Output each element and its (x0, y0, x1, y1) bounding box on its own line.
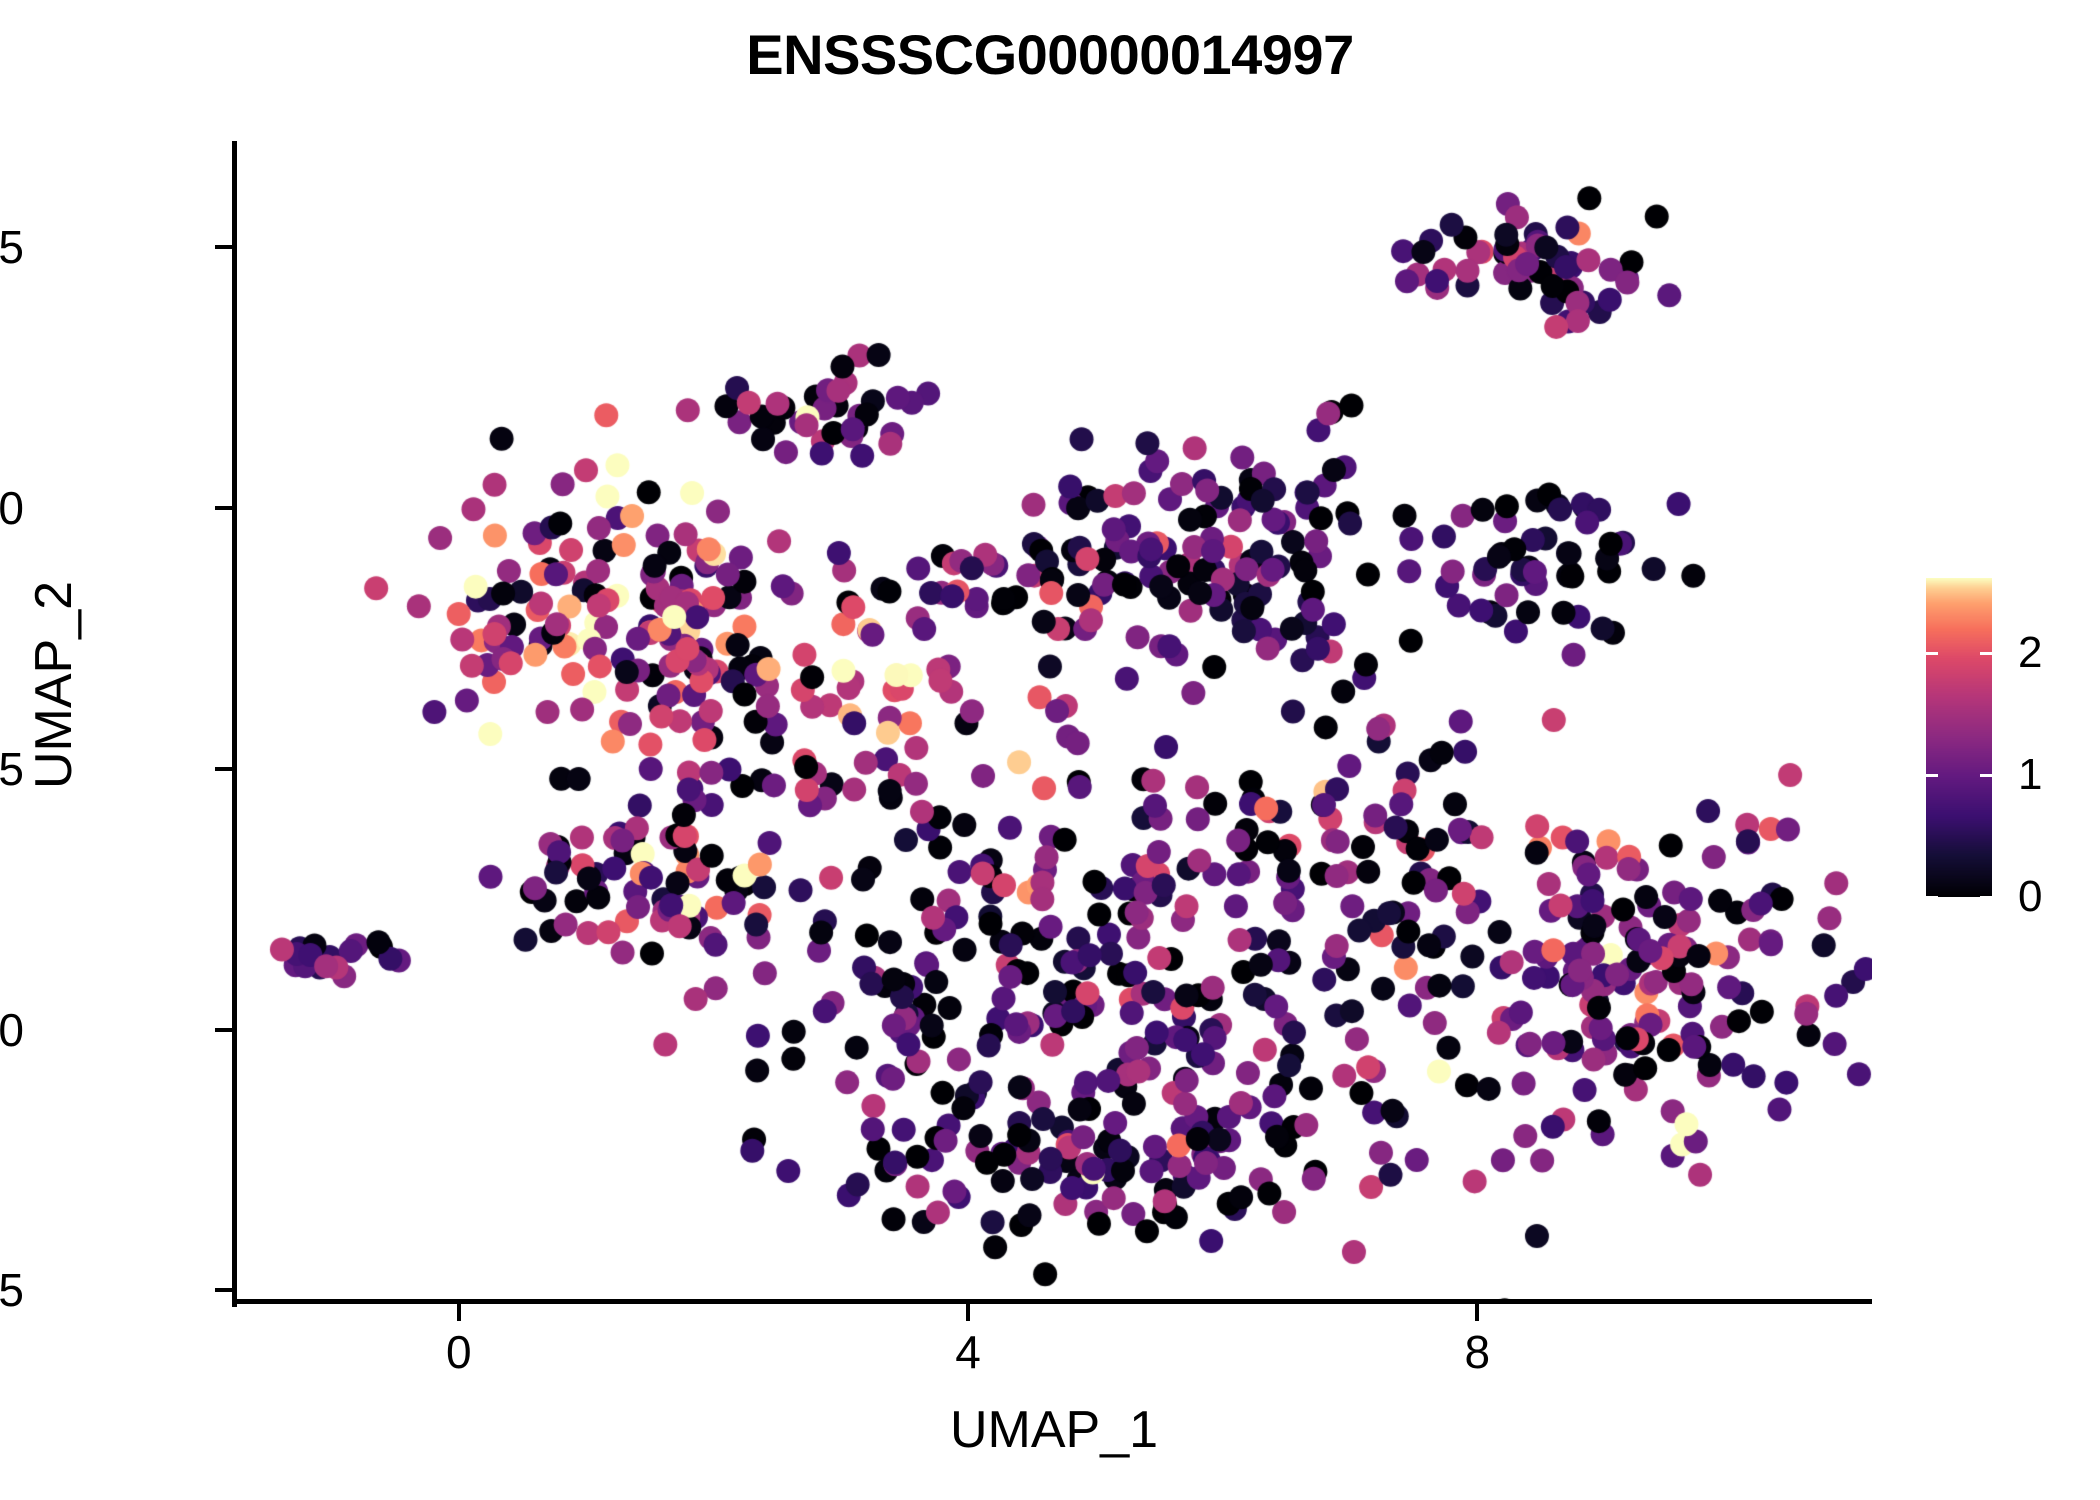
x-tick-mark (1475, 1304, 1479, 1321)
y-tick-mark (215, 245, 232, 249)
colorbar-tick-mark (1980, 652, 1992, 655)
x-tick-label: 0 (446, 1325, 472, 1379)
y-tick-mark (215, 767, 232, 771)
x-tick-label: 4 (955, 1325, 981, 1379)
y-tick-label: 7.5 (0, 220, 24, 274)
plot-panel (236, 141, 1872, 1303)
page-title: ENSSSCG00000014997 (0, 22, 2100, 87)
x-tick-label: 8 (1465, 1325, 1491, 1379)
colorbar-tick-mark (1926, 652, 1938, 655)
y-tick-label: 5.0 (0, 481, 24, 535)
colorbar-tick-label: 0 (2018, 872, 2042, 922)
colorbar-tick-mark (1980, 896, 1992, 899)
x-tick-mark (966, 1304, 970, 1321)
umap-feature-plot: ENSSSCG00000014997 -2.50.02.55.07.5 048 … (0, 0, 2100, 1500)
y-tick-mark (215, 1288, 232, 1292)
colorbar-tick-mark (1980, 774, 1992, 777)
colorbar-tick-label: 2 (2018, 628, 2042, 678)
colorbar-tick-mark (1926, 774, 1938, 777)
x-tick-mark (457, 1304, 461, 1321)
y-tick-mark (215, 1028, 232, 1032)
scatter-points-canvas (236, 141, 1872, 1303)
colorbar-legend (1926, 578, 1992, 897)
y-tick-label: 2.5 (0, 742, 24, 796)
x-axis-line (232, 1299, 1872, 1304)
colorbar-tick-mark (1926, 896, 1938, 899)
y-tick-label: 0.0 (0, 1003, 24, 1057)
y-tick-mark (215, 506, 232, 510)
x-axis-title: UMAP_1 (236, 1400, 1872, 1460)
colorbar-gradient (1926, 578, 1992, 897)
y-axis-title: UMAP_2 (24, 335, 84, 1035)
colorbar-tick-label: 1 (2018, 750, 2042, 800)
y-axis-line (232, 141, 237, 1307)
y-tick-label: -2.5 (0, 1263, 24, 1317)
